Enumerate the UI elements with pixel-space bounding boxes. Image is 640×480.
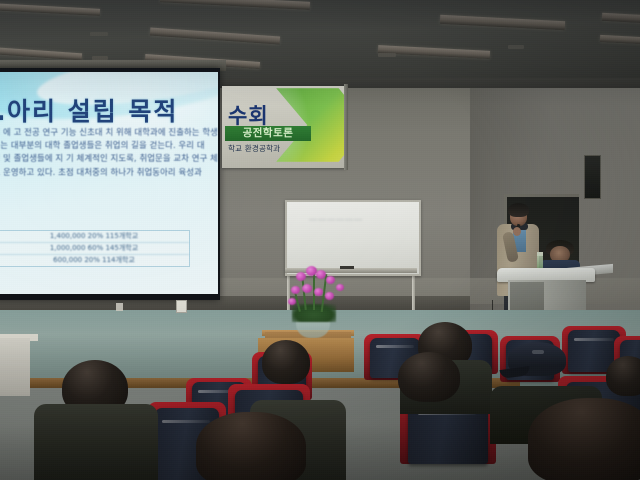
table-row: 600,000 20% 114개학교 [0,255,189,266]
banner-subtitle: 공전학토론 [225,126,311,141]
ceiling-vent [508,45,524,49]
attendee-hair [606,356,640,396]
ceiling-vent [378,53,396,57]
orchid-bloom [296,272,306,281]
wall-banner: 수회 공전학토론 학교 환경공학과 [222,86,346,168]
presenter-hair [508,203,529,217]
presenter-hand [513,227,521,236]
slide-body-line: …고는 대부분의 대학 졸업생들은 취업의 길을 걷는다. 우리 대 [0,139,216,152]
banner-chevron-logo-icon [276,88,346,162]
lecture-hall-photo: …아리 설립 목적 …업 에 고 전공 연구 기능 신초대 치 위해 대학과에 … [0,0,640,480]
orchid-bloom [316,270,326,279]
slide-title: …아리 설립 목적 [0,92,210,128]
attendee-shoulders [34,404,158,480]
slide-body-line: …로 운영하고 있다. 초점 대처중의 하나가 취업동아리 육성과 [0,166,216,179]
attendee-cap-logo-icon [532,350,544,354]
whiteboard-writing: ＿＿＿＿＿＿ [309,211,401,221]
seat-highlight [162,420,210,423]
orchid-bloom [325,292,334,300]
attendee-long-hair [196,412,306,480]
table-row: 1,400,000 20% 115개학교 [0,231,189,243]
attendee-hair [262,340,310,384]
white-stand [0,338,30,396]
wall-outlet[interactable] [116,303,123,311]
slide-body-line: …업 에 고 전공 연구 기능 신초대 치 위해 대학과에 진출하는 학생 [0,126,216,139]
attendee-hair [398,352,460,402]
slide-table: 1,400,000 20% 115개학교 1,000,000 60% 145개학… [0,230,190,267]
whiteboard-marker[interactable] [340,266,354,269]
slide-body-line: …행 및 졸업생들에 지 기 체계적인 지도록, 취업문을 교차 연구 체 [0,152,216,165]
whiteboard[interactable]: ＿＿＿＿＿＿ [285,200,421,276]
banner-pole [344,84,348,170]
seat-highlight [574,338,614,341]
orchid-bloom [314,288,323,296]
wall-outlet[interactable] [176,300,187,313]
orchid-bloom [302,284,312,293]
orchid-bloom [336,284,344,291]
slide-body: …업 에 고 전공 연구 기능 신초대 치 위해 대학과에 진출하는 학생 …고… [0,126,216,179]
attendee-long-hair [528,398,640,480]
wall-speaker-icon [584,155,601,199]
orchid-bloom [288,298,296,305]
orchid-bloom [326,276,335,284]
projection-screen[interactable]: …아리 설립 목적 …업 에 고 전공 연구 기능 신초대 치 위해 대학과에 … [0,72,218,294]
ceiling-vent [90,32,108,36]
seat-highlight [376,345,414,348]
orchid-bloom [291,286,300,294]
banner-department: 학교 환경공학과 [228,143,280,154]
table-row: 1,000,000 60% 145개학교 [0,243,189,255]
